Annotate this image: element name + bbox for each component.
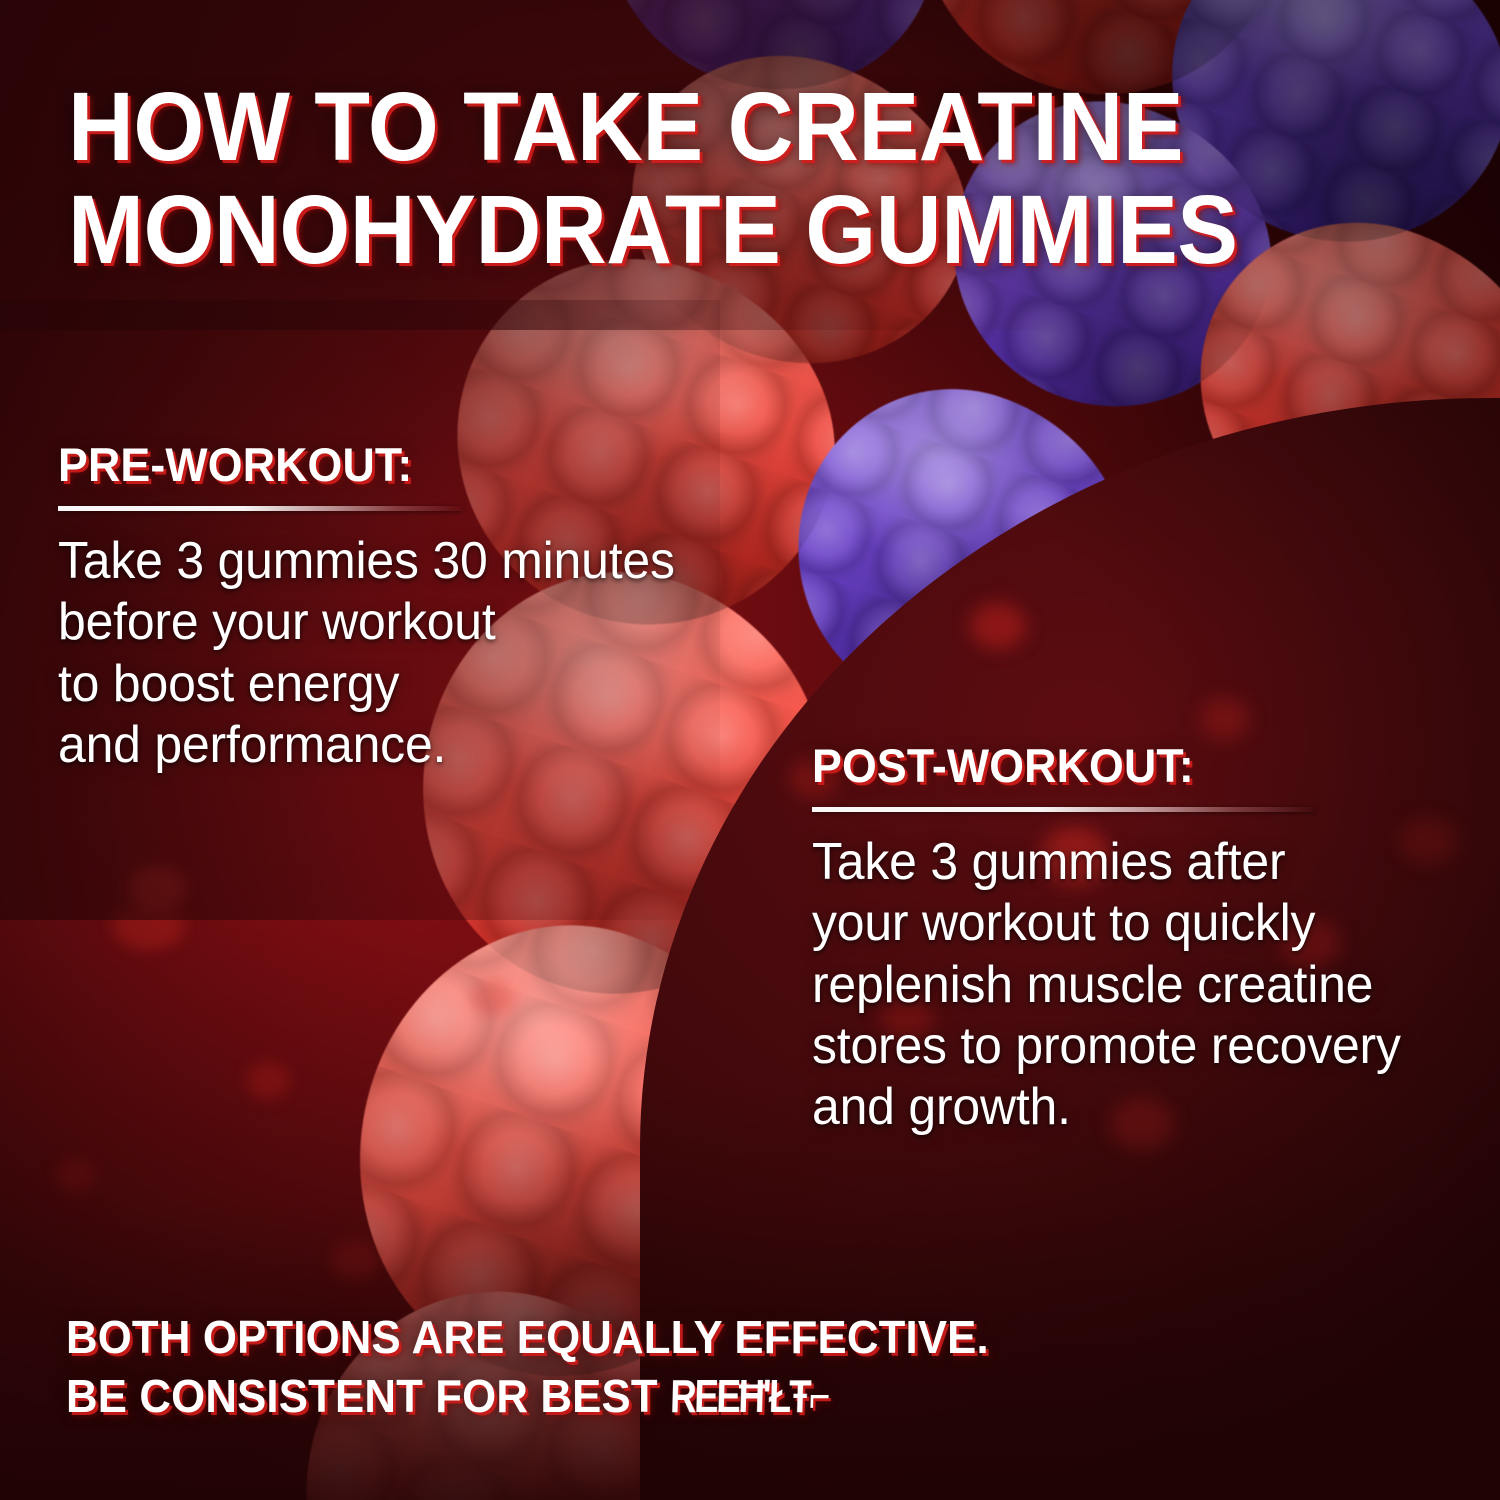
footer-callout: BOTH OPTIONS ARE EQUALLY EFFECTIVE. BE C… <box>66 1308 989 1426</box>
footer-line-2: BE CONSISTENT FOR BEST REEĦ'ŁŦ⌐ <box>66 1367 989 1426</box>
body-line: before your workout <box>58 592 788 653</box>
section-pre-workout: PRE-WORKOUT: Take 3 gummies 30 minutes b… <box>58 437 818 776</box>
page-title: HOW TO TAKE CREATINE MONOHYDRATE GUMMIES <box>68 76 1403 282</box>
infographic-poster: HOW TO TAKE CREATINE MONOHYDRATE GUMMIES… <box>0 0 1500 1500</box>
body-line: to boost energy <box>58 654 788 715</box>
post-workout-body: Take 3 gummies after your workout to qui… <box>812 832 1465 1139</box>
title-line-2: MONOHYDRATE GUMMIES <box>68 179 1403 282</box>
post-workout-heading: POST-WORKOUT: <box>812 738 1458 793</box>
pre-workout-underline <box>58 506 462 511</box>
body-line: Take 3 gummies 30 minutes <box>58 531 788 592</box>
body-line: Take 3 gummies after <box>812 832 1465 893</box>
body-line: your workout to quickly <box>812 893 1465 954</box>
body-line: and performance. <box>58 715 788 776</box>
pre-workout-heading: PRE-WORKOUT: <box>58 437 780 492</box>
post-workout-underline <box>812 807 1314 812</box>
footer-line-2-prefix: BE CONSISTENT FOR BEST <box>66 1370 670 1422</box>
title-line-1: HOW TO TAKE CREATINE <box>68 76 1403 179</box>
footer-glitched-word: REEĦ'ŁŦ⌐ <box>669 1367 828 1426</box>
pre-workout-body: Take 3 gummies 30 minutes before your wo… <box>58 531 788 776</box>
body-line: and growth. <box>812 1077 1465 1138</box>
body-line: stores to promote recovery <box>812 1016 1465 1077</box>
body-line: replenish muscle creatine <box>812 955 1465 1016</box>
footer-line-1: BOTH OPTIONS ARE EQUALLY EFFECTIVE. <box>66 1308 989 1367</box>
section-post-workout: POST-WORKOUT: Take 3 gummies after your … <box>812 738 1492 1139</box>
